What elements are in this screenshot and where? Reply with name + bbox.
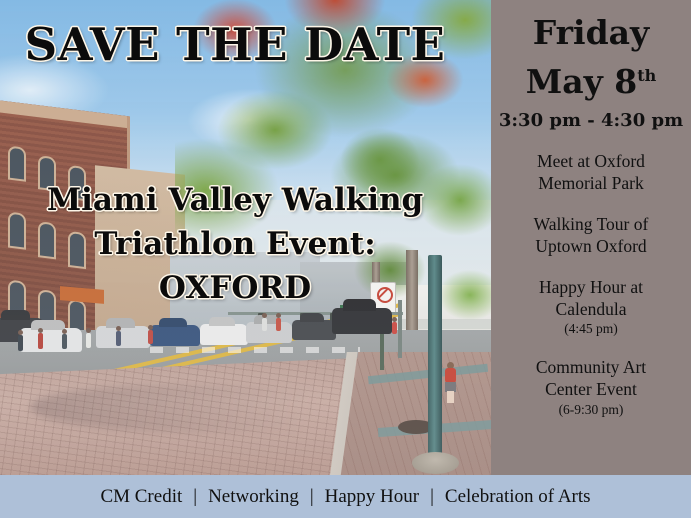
footer-separator: | [299,486,325,508]
agenda-item-line-1: Meet at Oxford [491,150,691,172]
pedestrian [276,318,281,331]
footer-item-cm-credit: CM Credit [100,486,182,508]
agenda-item-line-2: Memorial Park [491,172,691,194]
vehicle [292,320,336,340]
agenda-item-time: (4:45 pm) [491,320,691,338]
pedestrian-legs [447,391,454,403]
agenda-item-line-1: Happy Hour at [491,276,691,298]
pedestrian [116,331,121,346]
page-title: SAVE THE DATE [0,22,470,67]
pedestrian [18,335,23,351]
agenda-list: Meet at Oxford Memorial Park Walking Tou… [491,150,691,418]
footer-bar: CM Credit | Networking | Happy Hour | Ce… [0,475,691,518]
event-title-line-3: OXFORD [0,266,470,310]
footer-item-celebration-of-arts: Celebration of Arts [445,486,591,508]
pedestrian [62,334,67,349]
vehicle [96,326,150,348]
vehicle [20,328,82,352]
suv-vehicle [332,308,392,334]
agenda-item: Walking Tour of Uptown Oxford [491,213,691,258]
pedestrian-foreground [445,368,456,402]
agenda-item: Community Art Center Event (6-9:30 pm) [491,356,691,418]
window [10,148,24,180]
agenda-item: Happy Hour at Calendula (4:45 pm) [491,276,691,338]
event-title-line-1: Miami Valley Walking [0,178,470,222]
event-time-range: 3:30 pm - 4:30 pm [491,112,691,130]
event-day: Friday [491,16,691,49]
agenda-item-line-2: Center Event [491,378,691,400]
footer-separator: | [419,486,445,508]
footer-separator: | [182,486,208,508]
agenda-item: Meet at Oxford Memorial Park [491,150,691,195]
agenda-item-time: (6-9:30 pm) [491,401,691,419]
agenda-item-line-2: Uptown Oxford [491,235,691,257]
footer-item-happy-hour: Happy Hour [325,486,419,508]
pedestrian [148,330,153,344]
pedestrian-torso [445,368,456,383]
agenda-item-line-1: Walking Tour of [491,213,691,235]
crosswalk-stripes [150,347,360,353]
event-date-suffix: th [637,66,656,85]
pedestrian [86,333,91,348]
vehicle [150,325,200,346]
event-date: May 8th [491,65,691,98]
agenda-item-line-2: Calendula [491,298,691,320]
save-the-date-poster: SAVE THE DATE Miami Valley Walking Triat… [0,0,691,518]
pedestrian [392,322,397,334]
event-title: Miami Valley Walking Triathlon Event: OX… [0,178,470,310]
details-panel: Friday May 8th 3:30 pm - 4:30 pm Meet at… [491,0,691,475]
pedestrian [262,318,267,331]
footer-item-networking: Networking [208,486,299,508]
event-title-line-2: Triathlon Event: [0,222,470,266]
vehicle [246,322,292,343]
agenda-item-line-1: Community Art [491,356,691,378]
pedestrian [38,333,43,349]
lamppost-base [412,452,459,474]
event-date-text: May 8 [526,62,638,101]
vehicle [200,324,248,345]
